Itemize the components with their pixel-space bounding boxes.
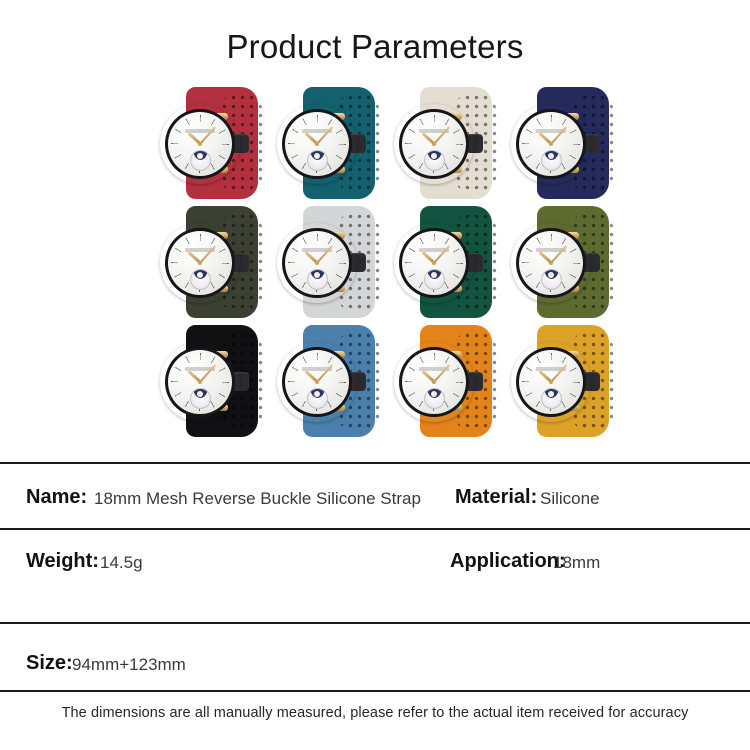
moonphase-subdial xyxy=(541,150,562,171)
watch-dial xyxy=(285,350,349,414)
spec-row-size: Size: 94mm+123mm xyxy=(0,622,750,690)
moonphase-subdial xyxy=(424,150,445,171)
moonphase-subdial xyxy=(307,269,328,290)
watch-image xyxy=(394,206,498,318)
watch-swatch[interactable] xyxy=(503,83,620,202)
watch-dial xyxy=(168,350,232,414)
watch-swatch[interactable] xyxy=(503,202,620,321)
watch-bezel xyxy=(516,347,586,417)
watch-swatch[interactable] xyxy=(152,202,269,321)
watch-image xyxy=(511,325,615,437)
hands-center-cap xyxy=(315,261,319,265)
watch-case xyxy=(277,104,357,184)
watch-swatch[interactable] xyxy=(269,321,386,440)
watch-case xyxy=(394,104,474,184)
spec-value-name: 18mm Mesh Reverse Buckle Silicone Strap xyxy=(94,489,421,509)
watch-image xyxy=(394,325,498,437)
watch-case xyxy=(394,223,474,303)
watch-swatch[interactable] xyxy=(269,202,386,321)
watch-case xyxy=(511,223,591,303)
watch-bezel xyxy=(282,347,352,417)
spec-key-material: Material: xyxy=(455,486,537,509)
watch-image xyxy=(277,325,381,437)
watch-dial xyxy=(285,231,349,295)
hands-center-cap xyxy=(198,261,202,265)
page-title: Product Parameters xyxy=(0,28,750,66)
watch-swatch[interactable] xyxy=(503,321,620,440)
watch-dial xyxy=(519,350,583,414)
watch-swatch[interactable] xyxy=(152,83,269,202)
watch-swatch[interactable] xyxy=(386,83,503,202)
watch-bezel xyxy=(399,347,469,417)
watch-bezel xyxy=(282,109,352,179)
hands-center-cap xyxy=(198,142,202,146)
watch-bezel xyxy=(399,109,469,179)
hands-center-cap xyxy=(315,380,319,384)
product-parameters-page: Product Parameters Name: 18mm Mesh Rever… xyxy=(0,0,750,750)
watch-dial xyxy=(168,112,232,176)
watch-swatch[interactable] xyxy=(269,83,386,202)
watch-bezel xyxy=(165,347,235,417)
watch-bezel xyxy=(282,228,352,298)
watch-case xyxy=(160,342,240,422)
spec-key-size: Size: xyxy=(26,652,73,675)
watch-dial xyxy=(402,350,466,414)
watch-swatch[interactable] xyxy=(152,321,269,440)
hands-center-cap xyxy=(198,380,202,384)
moonphase-subdial xyxy=(307,150,328,171)
hands-center-cap xyxy=(432,380,436,384)
spec-key-application: Application: xyxy=(450,550,566,573)
watch-dial xyxy=(402,112,466,176)
watch-case xyxy=(160,104,240,184)
watch-bezel xyxy=(399,228,469,298)
spec-row-name: Name: 18mm Mesh Reverse Buckle Silicone … xyxy=(0,462,750,528)
spec-divider-3 xyxy=(0,690,750,692)
hands-center-cap xyxy=(315,142,319,146)
watch-image xyxy=(160,87,264,199)
watch-case xyxy=(277,223,357,303)
moonphase-subdial xyxy=(307,388,328,409)
spec-value-size: 94mm+123mm xyxy=(72,655,186,675)
watch-color-grid xyxy=(152,83,622,440)
watch-image xyxy=(511,206,615,318)
watch-case xyxy=(277,342,357,422)
watch-bezel xyxy=(165,228,235,298)
watch-bezel xyxy=(516,109,586,179)
watch-bezel xyxy=(165,109,235,179)
moonphase-subdial xyxy=(424,388,445,409)
watch-bezel xyxy=(516,228,586,298)
watch-case xyxy=(511,104,591,184)
watch-image xyxy=(394,87,498,199)
watch-swatch[interactable] xyxy=(386,202,503,321)
moonphase-subdial xyxy=(541,388,562,409)
watch-image xyxy=(277,87,381,199)
spec-key-weight: Weight: xyxy=(26,550,99,573)
watch-image xyxy=(160,206,264,318)
watch-case xyxy=(511,342,591,422)
watch-dial xyxy=(168,231,232,295)
watch-dial xyxy=(519,112,583,176)
watch-image xyxy=(511,87,615,199)
measurement-disclaimer: The dimensions are all manually measured… xyxy=(0,705,750,721)
hands-center-cap xyxy=(549,261,553,265)
spec-value-application: 18mm xyxy=(553,553,600,573)
spec-value-material: Silicone xyxy=(540,489,600,509)
moonphase-subdial xyxy=(190,269,211,290)
watch-image xyxy=(160,325,264,437)
moonphase-subdial xyxy=(190,150,211,171)
watch-dial xyxy=(402,231,466,295)
moonphase-subdial xyxy=(424,269,445,290)
watch-case xyxy=(160,223,240,303)
moonphase-subdial xyxy=(190,388,211,409)
hands-center-cap xyxy=(549,142,553,146)
hands-center-cap xyxy=(432,261,436,265)
watch-dial xyxy=(285,112,349,176)
spec-key-name: Name: xyxy=(26,486,87,509)
watch-dial xyxy=(519,231,583,295)
spec-row-weight: Weight: 14.5g Application: 18mm xyxy=(0,528,750,622)
hands-center-cap xyxy=(432,142,436,146)
spec-value-weight: 14.5g xyxy=(100,553,143,573)
moonphase-subdial xyxy=(541,269,562,290)
hands-center-cap xyxy=(549,380,553,384)
watch-image xyxy=(277,206,381,318)
watch-swatch[interactable] xyxy=(386,321,503,440)
watch-case xyxy=(394,342,474,422)
